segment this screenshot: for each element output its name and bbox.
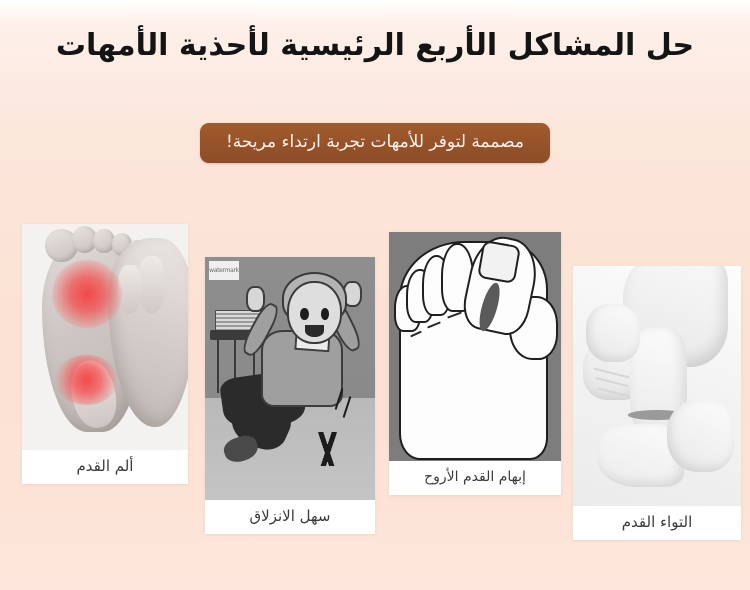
pain-hotspot-forefoot — [52, 260, 122, 328]
foot-pain-illustration — [22, 224, 188, 450]
slip-motion-zigzag — [300, 432, 354, 466]
motion-line — [343, 396, 352, 417]
card-caption: إبهام القدم الأروح — [389, 461, 561, 495]
problem-image-bunion — [389, 232, 561, 461]
slipping-cartoon-illustration: watermark — [205, 257, 375, 500]
problem-card-sprain[interactable]: التواء القدم — [573, 266, 741, 540]
problem-image-sprain — [573, 266, 741, 506]
problem-card-slipping[interactable]: watermark — [205, 257, 375, 534]
hand-shape — [246, 286, 265, 312]
hand-holding-ankle-shape — [667, 400, 734, 472]
eye-shape — [300, 308, 309, 320]
hand-shape — [586, 304, 640, 362]
promo-poster: حل المشاكل الأربع الرئيسية لأحذية الأمها… — [0, 0, 750, 590]
card-caption: التواء القدم — [573, 506, 741, 540]
toenail-shape — [477, 240, 521, 284]
card-caption: ألم القدم — [22, 450, 188, 484]
subtitle-banner: مصممة لتوفر للأمهات تجربة ارتداء مريحة! — [200, 123, 550, 163]
problem-image-foot-pain — [22, 224, 188, 450]
eye-shape — [321, 308, 330, 320]
pain-hotspot-heel — [55, 355, 118, 405]
card-caption: سهل الانزلاق — [205, 500, 375, 534]
finger-shape — [138, 256, 165, 315]
problem-image-slipping: watermark — [205, 257, 375, 500]
watermark-badge: watermark — [209, 261, 239, 280]
problem-card-bunion[interactable]: إبهام القدم الأروح — [389, 232, 561, 495]
page-title: حل المشاكل الأربع الرئيسية لأحذية الأمها… — [0, 26, 750, 66]
ankle-sprain-illustration — [573, 266, 741, 506]
subtitle-banner-row: مصممة لتوفر للأمهات تجربة ارتداء مريحة! — [0, 123, 750, 163]
table-leg-shape — [217, 340, 219, 393]
bunion-illustration — [389, 232, 561, 461]
problem-card-foot-pain[interactable]: ألم القدم — [22, 224, 188, 484]
finger-shape — [118, 265, 141, 315]
